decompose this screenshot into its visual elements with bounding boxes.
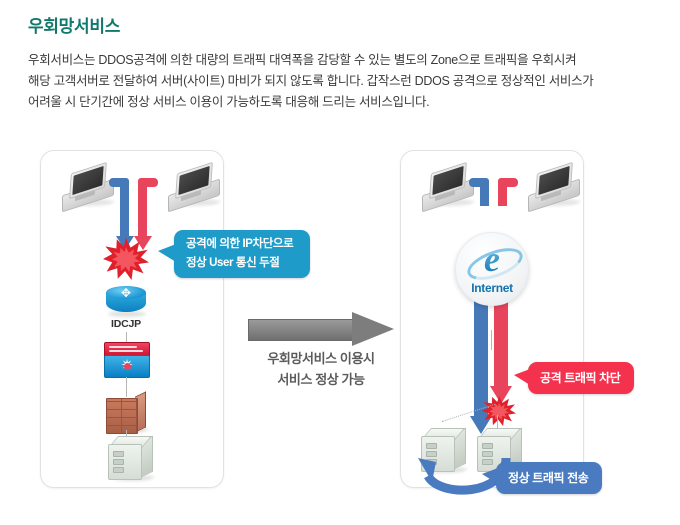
firewall-icon-left	[106, 394, 146, 432]
callout-tail	[514, 369, 530, 385]
page-description: 우회서비스는 DDOS공격에 의한 대량의 트래픽 대역폭을 감당할 수 있는 …	[28, 50, 648, 113]
server-slot	[113, 459, 124, 465]
arrow-vertical-segment	[138, 178, 147, 238]
attack-traffic-arrow-left	[130, 178, 158, 252]
arrow-vertical-segment	[498, 178, 507, 206]
callout-normal-text: 정상 트래픽 전송	[508, 471, 588, 485]
transition-caption-line-1: 우회망서비스 이용시	[228, 348, 414, 369]
router-icon-left: ✥	[106, 286, 146, 316]
callout-attack-blocked: 공격 트래픽 차단	[528, 362, 634, 394]
callout-attack-text: 공격 트래픽 차단	[540, 371, 620, 385]
attack-traffic-elbow-right	[490, 178, 518, 208]
transition-caption-line-2: 서비스 정상 가능	[228, 369, 414, 390]
switch-center-dot	[124, 363, 131, 370]
transition-caption: 우회망서비스 이용시 서비스 정상 가능	[228, 348, 414, 390]
server-front	[108, 444, 142, 480]
internet-icon: e Internet	[455, 232, 529, 306]
callout-ip-blocked: 공격에 의한 IP차단으로 정상 User 통신 두절	[174, 230, 310, 278]
connector-router-switch-right	[491, 330, 492, 350]
server-slot	[482, 443, 493, 449]
description-line-3: 어려울 시 단기간에 정상 서비스 이용이 가능하도록 대응해 드리는 서비스입…	[28, 92, 648, 113]
transition-arrow	[248, 312, 394, 346]
server-icon-left	[108, 436, 154, 480]
switch-line	[109, 350, 143, 352]
server-slot	[426, 443, 437, 449]
laptop-attacker-right	[526, 168, 582, 208]
firewall-face	[106, 398, 138, 434]
switch-line	[109, 346, 137, 348]
callout-tail	[482, 468, 498, 484]
arrow-vertical-segment	[480, 178, 489, 206]
internet-label: Internet	[456, 281, 528, 295]
arrow-vertical-segment	[120, 178, 129, 238]
router-label-left: IDCJP	[86, 318, 166, 330]
description-line-1: 우회서비스는 DDOS공격에 의한 대량의 트래픽 대역폭을 감당할 수 있는 …	[28, 50, 648, 71]
arrow-shaft	[248, 319, 356, 341]
page-title: 우회망서비스	[28, 12, 120, 37]
switch-body-blue: ✷	[104, 355, 150, 378]
server-slot	[113, 451, 124, 457]
laptop-normal-user-left	[60, 168, 116, 208]
callout-normal-forwarded: 정상 트래픽 전송	[496, 462, 602, 494]
description-line-2: 해당 고객서버로 전달하여 서버(사이트) 마비가 되지 않도록 합니다. 갑작…	[28, 71, 648, 92]
callout-line-1: 공격에 의한 IP차단으로	[186, 235, 310, 254]
callout-tail	[158, 244, 176, 262]
router-arrows-glyph: ✥	[114, 287, 138, 299]
laptop-attacker-left	[166, 168, 222, 208]
server-slot	[113, 467, 124, 473]
switch-icon-left: ✷	[104, 342, 148, 376]
arrow-head	[352, 312, 394, 346]
callout-line-2: 정상 User 통신 두절	[186, 254, 310, 273]
laptop-normal-user-right	[420, 168, 476, 208]
